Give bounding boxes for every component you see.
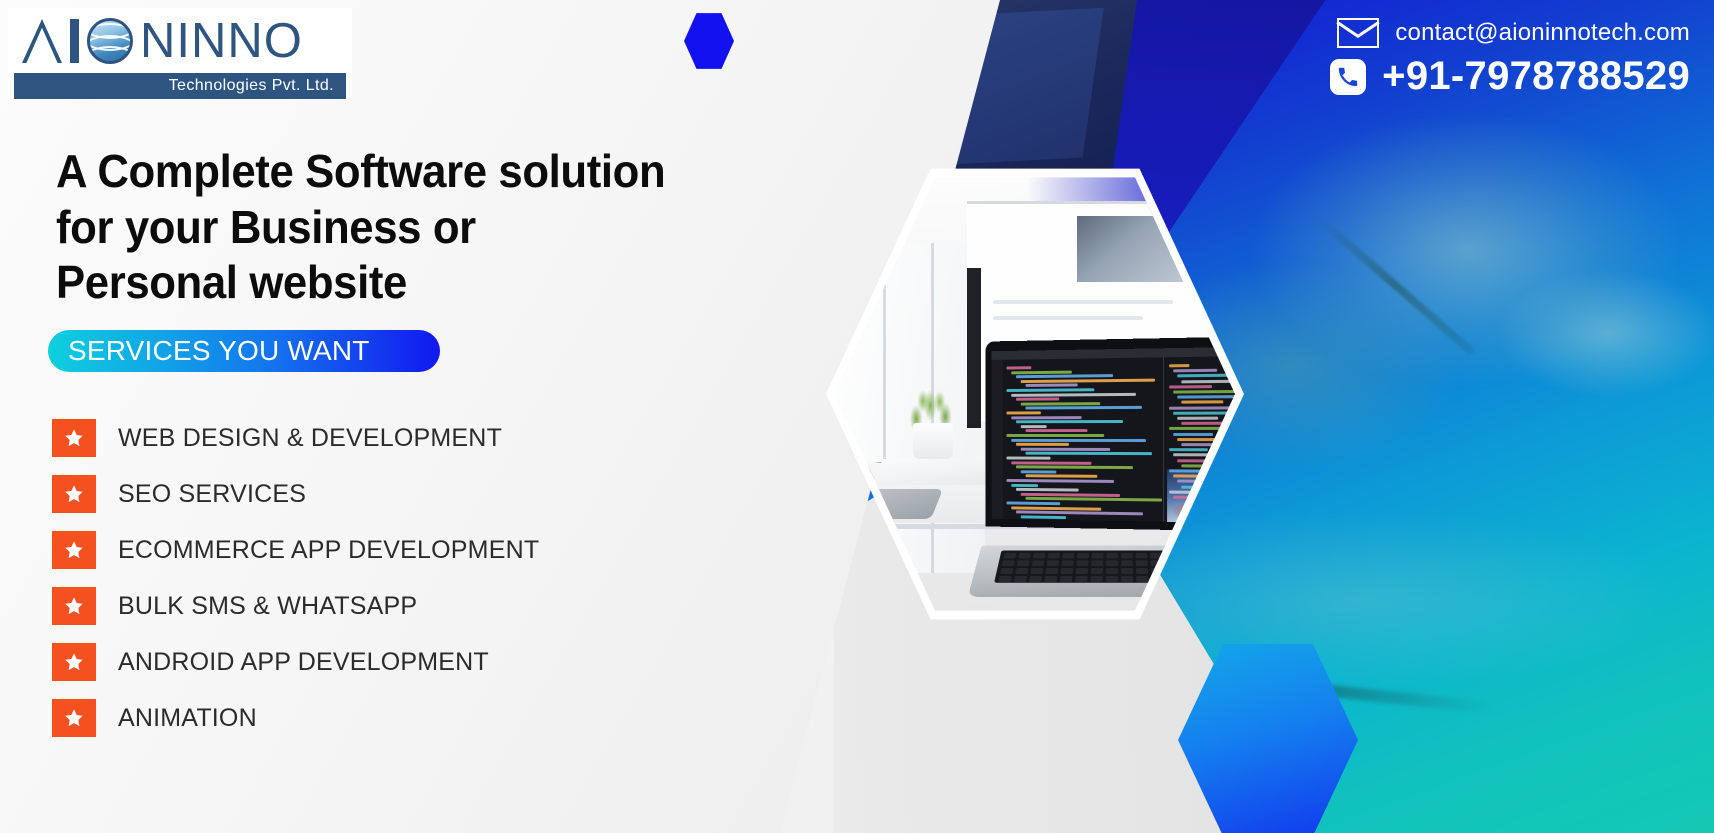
code-line (1181, 485, 1235, 489)
keyboard-key (1047, 560, 1060, 566)
code-line (1006, 388, 1094, 392)
code-line (1006, 457, 1050, 460)
code-line (1016, 374, 1113, 378)
keyboard-key (1060, 576, 1073, 582)
code-line (1181, 464, 1219, 467)
service-label: BULK SMS & WHATSAPP (118, 592, 417, 621)
star-icon (52, 643, 96, 681)
code-line (1021, 402, 1100, 405)
laptop-code-photo (826, 164, 1244, 624)
code-line (1006, 501, 1060, 505)
star-icon (52, 587, 96, 625)
headline-line-3: Personal website (56, 255, 778, 311)
keyboard-key (1209, 560, 1222, 566)
keyboard-key (1015, 568, 1028, 574)
code-line (1173, 433, 1213, 436)
star-icon (52, 419, 96, 457)
code-line (1026, 475, 1098, 479)
service-item[interactable]: ECOMMERCE APP DEVELOPMENT (52, 522, 752, 578)
keyboard-key (1090, 576, 1102, 582)
keyboard-key (1033, 553, 1046, 559)
service-label: ANDROID APP DEVELOPMENT (118, 648, 489, 677)
plant-pot (913, 423, 953, 459)
keyboard-key (1075, 576, 1088, 582)
keyboard-key (1195, 560, 1208, 566)
laptop-base (968, 546, 1235, 597)
keyboard-key (1061, 560, 1073, 566)
keyboard-key (1226, 568, 1235, 574)
services-badge-label: SERVICES YOU WANT (68, 335, 370, 367)
keyboard-key (1045, 568, 1058, 574)
logo-subtitle: Technologies Pvt. Ltd. (169, 77, 334, 95)
phone-icon (1330, 59, 1366, 95)
code-line (1011, 484, 1038, 487)
star-icon (52, 531, 96, 569)
hexagon-shape (1178, 640, 1358, 833)
code-line (1016, 488, 1079, 492)
keyboard-key (1150, 553, 1162, 559)
code-line (1169, 448, 1208, 451)
monitor-image (1077, 216, 1197, 282)
editor-split (1163, 357, 1164, 523)
keyboard-key (1017, 560, 1030, 566)
keyboard-key (1030, 568, 1043, 574)
service-label: ECOMMERCE APP DEVELOPMENT (118, 536, 539, 565)
keyboard-key (1212, 576, 1225, 582)
service-item[interactable]: ANDROID APP DEVELOPMENT (52, 634, 752, 690)
hexagon-photo-clip (835, 173, 1235, 615)
email-row[interactable]: contact@aioninnotech.com (1337, 18, 1690, 48)
window-bar (883, 243, 886, 573)
star-icon (52, 475, 96, 513)
keyboard-key (1121, 560, 1133, 566)
keyboard-key (1135, 553, 1147, 559)
keyboard-key (1091, 568, 1103, 574)
keyboard-key (1000, 568, 1013, 574)
keyboard-key (1048, 553, 1060, 559)
logo-text: NINNO (140, 17, 303, 66)
logo-letter-i (70, 19, 79, 63)
code-line (1173, 454, 1235, 457)
keyboard-key (1032, 560, 1045, 566)
keyboard-key (1077, 553, 1089, 559)
code-line (1181, 443, 1235, 446)
hexagon-white-border (826, 164, 1244, 624)
code-line (1181, 401, 1223, 404)
keyboard-key (1167, 576, 1180, 582)
headline-line-1: A Complete Software solution (56, 144, 778, 200)
code-line (1177, 374, 1235, 378)
keyboard-key (1150, 560, 1162, 566)
keyboard-key (1208, 553, 1221, 559)
keyboard-key (1018, 553, 1031, 559)
email-address[interactable]: contact@aioninnotech.com (1395, 19, 1690, 47)
code-line (1026, 452, 1152, 455)
keyboard-key (1196, 568, 1209, 574)
globe-icon (87, 18, 133, 64)
code-line (1021, 425, 1047, 428)
phone-number[interactable]: +91-7978788529 (1382, 54, 1690, 99)
star-icon (52, 699, 96, 737)
hexagon-shape (684, 12, 734, 70)
code-line (1016, 443, 1069, 446)
company-logo[interactable]: NINNO Technologies Pvt. Ltd. (8, 8, 352, 98)
code-line (1026, 406, 1142, 410)
service-label: WEB DESIGN & DEVELOPMENT (118, 424, 502, 453)
keyboard-key (1002, 560, 1015, 566)
mousepad (835, 489, 943, 519)
keyboard-key (1076, 560, 1088, 566)
keyboard-key (1165, 560, 1177, 566)
promo-banner: NINNO Technologies Pvt. Ltd. contact@aio… (0, 0, 1714, 833)
code-line (1011, 392, 1136, 396)
keyboard-key (998, 576, 1011, 582)
keyboard-key (1092, 553, 1104, 559)
envelope-icon (1337, 18, 1379, 48)
keyboard-key (1136, 576, 1148, 582)
monitor-text-line (993, 300, 1173, 304)
code-line (1006, 411, 1040, 414)
keyboard-key (1121, 576, 1133, 582)
keyboard-key (1181, 568, 1194, 574)
monitor-text-line (993, 316, 1143, 320)
services-badge: SERVICES YOU WANT (48, 330, 440, 372)
laptop-keyboard (994, 550, 1235, 582)
keyboard-key (1151, 568, 1163, 574)
keyboard-key (1121, 568, 1133, 574)
keyboard-key (1165, 553, 1177, 559)
code-line (1177, 438, 1235, 441)
keyboard-key (1166, 568, 1179, 574)
code-line (1011, 416, 1081, 419)
keyboard-key (1197, 576, 1210, 582)
code-line (1021, 493, 1120, 497)
code-line (1021, 378, 1155, 382)
code-line (1173, 369, 1217, 373)
code-line (1177, 417, 1218, 420)
code-line (1016, 466, 1133, 470)
keyboard-key (1061, 568, 1074, 574)
keyboard-key (1211, 568, 1224, 574)
code-line (1006, 479, 1114, 483)
keyboard-key (1106, 560, 1118, 566)
keyboard-key (1091, 560, 1103, 566)
code-line (1006, 434, 1104, 437)
keyboard-key (1182, 576, 1195, 582)
code-line (1021, 470, 1057, 473)
contact-block: contact@aioninnotech.com +91-7978788529 (1330, 18, 1690, 99)
code-line (1181, 422, 1235, 425)
code-line (1177, 459, 1235, 462)
services-list: WEB DESIGN & DEVELOPMENTSEO SERVICESECOM… (52, 410, 752, 746)
keyboard-key (1106, 553, 1118, 559)
code-line (1173, 496, 1209, 499)
code-line (1011, 506, 1101, 510)
code-line (1169, 364, 1189, 367)
code-line (1173, 411, 1235, 414)
keyboard-key (1121, 553, 1133, 559)
keyboard-key (1179, 553, 1191, 559)
code-line (1173, 390, 1235, 394)
code-line (1011, 461, 1091, 464)
phone-row[interactable]: +91-7978788529 (1330, 54, 1690, 99)
logo-wordmark: NINNO (14, 12, 346, 70)
keyboard-key (1224, 560, 1235, 566)
service-item[interactable]: ANIMATION (52, 690, 752, 746)
keyboard-key (1151, 576, 1164, 582)
code-line (1169, 385, 1212, 388)
keyboard-key (1180, 560, 1193, 566)
code-line (1181, 379, 1235, 383)
code-line (1021, 515, 1066, 519)
keyboard-key (1223, 553, 1235, 559)
service-item[interactable]: WEB DESIGN & DEVELOPMENT (52, 410, 752, 466)
code-line (1169, 427, 1235, 430)
logo-subtitle-bar: Technologies Pvt. Ltd. (14, 73, 346, 99)
code-line (1016, 420, 1123, 423)
keyboard-key (1106, 576, 1118, 582)
keyboard-key (1136, 568, 1148, 574)
code-line (1016, 398, 1059, 401)
hexagon-accent-small (684, 12, 734, 70)
keyboard-key (1004, 553, 1017, 559)
hexagon-accent-large (1178, 640, 1358, 833)
code-line (1169, 469, 1230, 472)
code-line (1177, 395, 1235, 399)
page-title: A Complete Software solution for your Bu… (56, 144, 778, 311)
code-line (1026, 429, 1088, 432)
headline-line-2: for your Business or (56, 200, 778, 256)
code-line (1011, 439, 1146, 442)
keyboard-key (1076, 568, 1088, 574)
keyboard-key (1227, 576, 1235, 582)
editor-gutter (991, 360, 1002, 524)
code-line (1169, 406, 1235, 409)
keyboard-key (1044, 576, 1057, 582)
service-item[interactable]: SEO SERVICES (52, 466, 752, 522)
service-item[interactable]: BULK SMS & WHATSAPP (52, 578, 752, 634)
code-line (1006, 366, 1031, 369)
code-line (1021, 448, 1110, 451)
code-line (1011, 370, 1072, 374)
laptop (975, 339, 1235, 609)
service-label: SEO SERVICES (118, 480, 306, 509)
keyboard-key (1106, 568, 1118, 574)
code-line (1026, 384, 1078, 387)
keyboard-key (1194, 553, 1207, 559)
keyboard-key (1136, 560, 1148, 566)
keyboard-key (1029, 576, 1042, 582)
service-label: ANIMATION (118, 704, 257, 733)
triangle-a-icon (22, 19, 62, 63)
laptop-code-screen (991, 347, 1235, 524)
keyboard-key (1062, 553, 1074, 559)
keyboard-key (1014, 576, 1027, 582)
